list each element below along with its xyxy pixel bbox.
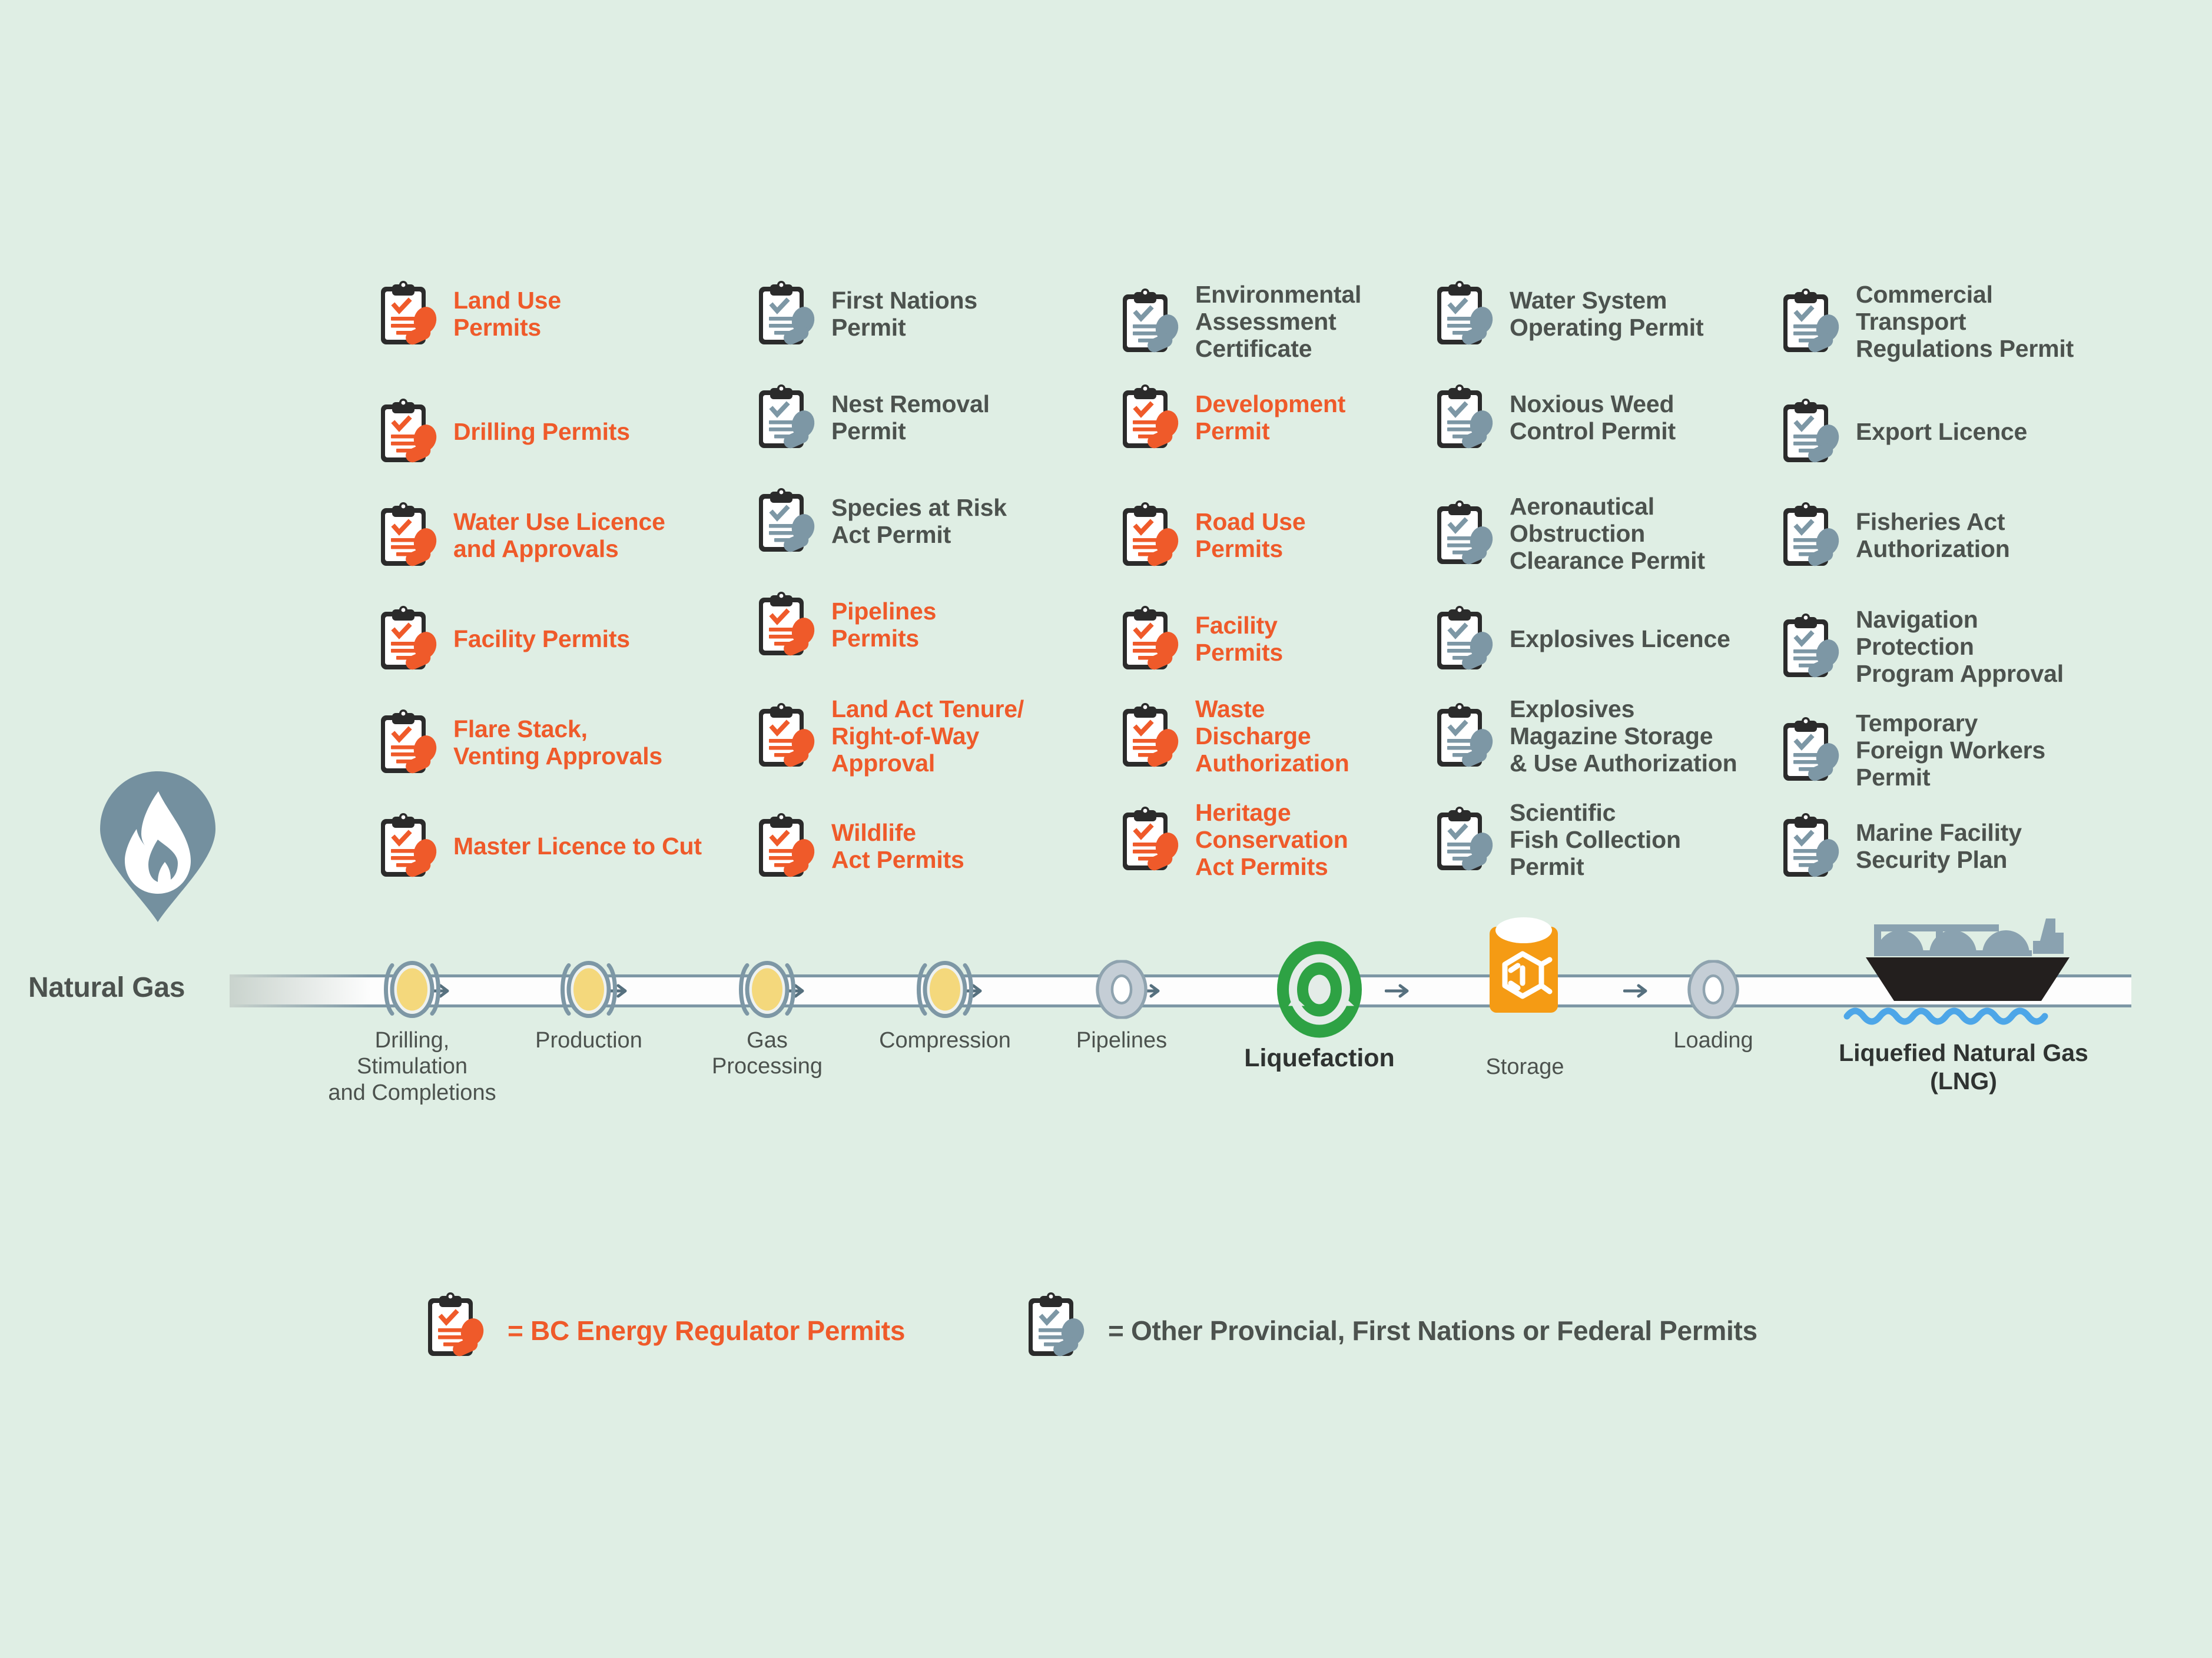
permit-item[interactable]: Noxious Weed Control Permit bbox=[1433, 385, 1775, 451]
permit-item[interactable]: Navigation Protection Program Approval bbox=[1779, 606, 2156, 688]
permit-label: Flare Stack, Venting Approvals bbox=[453, 716, 662, 770]
permit-item[interactable]: Export Licence bbox=[1779, 399, 2156, 465]
clipboard-gray-icon bbox=[1433, 281, 1499, 347]
stage-node-gas-processing[interactable] bbox=[737, 955, 798, 1027]
permit-item[interactable]: Fisheries Act Authorization bbox=[1779, 503, 2156, 569]
clipboard-orange-icon bbox=[755, 814, 821, 880]
clipboard-orange-icon bbox=[1119, 807, 1185, 873]
permit-grid: Land Use Permits Drilling Permits Wate bbox=[0, 0, 2212, 1658]
permit-item[interactable]: Road Use Permits bbox=[1119, 503, 1425, 569]
permit-label: Pipelines Permits bbox=[831, 598, 936, 652]
permit-label: Facility Permits bbox=[453, 626, 630, 653]
permit-item[interactable]: Environmental Assessment Certificate bbox=[1119, 281, 1425, 363]
stage-node-drilling[interactable] bbox=[382, 955, 443, 1027]
clipboard-orange-icon bbox=[377, 503, 443, 569]
permit-label: Land Act Tenure/ Right-of-Way Approval bbox=[831, 696, 1024, 777]
clipboard-gray-icon bbox=[1779, 814, 1845, 880]
clipboard-orange-icon bbox=[377, 710, 443, 776]
stage-node-liquefaction[interactable] bbox=[1275, 940, 1364, 1042]
permit-label: First Nations Permit bbox=[831, 287, 977, 341]
stage-node-label: Storage bbox=[1437, 1054, 1613, 1080]
permit-item[interactable]: Marine Facility Security Plan bbox=[1779, 814, 2156, 880]
clipboard-gray-icon bbox=[1024, 1293, 1100, 1368]
clipboard-orange-icon bbox=[755, 704, 821, 770]
clipboard-orange-icon bbox=[1119, 704, 1185, 770]
clipboard-orange-icon bbox=[1119, 503, 1185, 569]
legend-other: = Other Provincial, First Nations or Fed… bbox=[1024, 1293, 1757, 1368]
storage-tank-icon[interactable] bbox=[1488, 914, 1559, 1026]
permit-item[interactable]: Water System Operating Permit bbox=[1433, 281, 1775, 347]
lng-end-label: Liquefied Natural Gas (LNG) bbox=[1810, 1039, 2117, 1096]
permit-label: Master Licence to Cut bbox=[453, 833, 702, 860]
permit-label: Waste Discharge Authorization bbox=[1195, 696, 1349, 777]
clipboard-gray-icon bbox=[1433, 704, 1499, 770]
stage-node-production[interactable] bbox=[558, 955, 619, 1027]
clipboard-gray-icon bbox=[755, 489, 821, 555]
permit-item[interactable]: Land Use Permits bbox=[377, 281, 707, 347]
permit-item[interactable]: Explosives Licence bbox=[1433, 606, 1775, 672]
clipboard-orange-icon bbox=[1119, 385, 1185, 451]
permit-item[interactable]: Wildlife Act Permits bbox=[755, 814, 1085, 880]
permit-label: Road Use Permits bbox=[1195, 509, 1306, 563]
permit-item[interactable]: Explosives Magazine Storage & Use Author… bbox=[1433, 696, 1786, 777]
legend-ber: = BC Energy Regulator Permits bbox=[424, 1293, 905, 1368]
permit-item[interactable]: First Nations Permit bbox=[755, 281, 1085, 347]
stage-node-pipelines[interactable] bbox=[1092, 960, 1151, 1022]
permit-label: Nest Removal Permit bbox=[831, 391, 990, 445]
permit-item[interactable]: Flare Stack, Venting Approvals bbox=[377, 710, 707, 776]
permit-item[interactable]: Commercial Transport Regulations Permit bbox=[1779, 281, 2156, 363]
permit-item[interactable]: Waste Discharge Authorization bbox=[1119, 696, 1425, 777]
permit-item[interactable]: Master Licence to Cut bbox=[377, 814, 707, 880]
stage-node-label: Pipelines bbox=[1027, 1027, 1216, 1053]
permit-item[interactable]: Facility Permits bbox=[1119, 606, 1425, 672]
legend-other-label: = Other Provincial, First Nations or Fed… bbox=[1108, 1315, 1757, 1347]
clipboard-orange-icon bbox=[424, 1293, 499, 1368]
permit-item[interactable]: Development Permit bbox=[1119, 385, 1425, 451]
natural-gas-label: Natural Gas bbox=[28, 971, 185, 1004]
permit-label: Drilling Permits bbox=[453, 419, 630, 446]
permit-label: Wildlife Act Permits bbox=[831, 820, 964, 874]
permit-label: Noxious Weed Control Permit bbox=[1510, 391, 1676, 445]
permit-item[interactable]: Land Act Tenure/ Right-of-Way Approval bbox=[755, 696, 1085, 777]
flow-arrow-icon bbox=[1623, 982, 1650, 1000]
permit-label: Commercial Transport Regulations Permit bbox=[1856, 281, 2074, 363]
stage-node-label: Liquefaction bbox=[1190, 1043, 1449, 1073]
clipboard-orange-icon bbox=[377, 399, 443, 465]
permit-label: Facility Permits bbox=[1195, 612, 1283, 666]
permit-label: Marine Facility Security Plan bbox=[1856, 820, 2022, 874]
permit-item[interactable]: Heritage Conservation Act Permits bbox=[1119, 800, 1425, 881]
permit-label: Development Permit bbox=[1195, 391, 1345, 445]
pipe-gradient-shade bbox=[230, 974, 371, 1007]
flow-arrow-icon bbox=[1385, 982, 1412, 1000]
permit-item[interactable]: Nest Removal Permit bbox=[755, 385, 1085, 451]
permit-item[interactable]: Scientific Fish Collection Permit bbox=[1433, 800, 1775, 881]
permit-label: Temporary Foreign Workers Permit bbox=[1856, 710, 2045, 791]
permit-label: Explosives Licence bbox=[1510, 626, 1730, 653]
clipboard-orange-icon bbox=[377, 281, 443, 347]
legend-ber-label: = BC Energy Regulator Permits bbox=[508, 1315, 905, 1347]
permit-item[interactable]: Aeronautical Obstruction Clearance Permi… bbox=[1433, 493, 1775, 575]
permit-label: Land Use Permits bbox=[453, 287, 561, 341]
permit-label: Heritage Conservation Act Permits bbox=[1195, 800, 1348, 881]
stage-node-label: Compression bbox=[833, 1027, 1057, 1053]
permit-item[interactable]: Water Use Licence and Approvals bbox=[377, 503, 707, 569]
clipboard-orange-icon bbox=[377, 814, 443, 880]
clipboard-gray-icon bbox=[1779, 614, 1845, 680]
permit-label: Species at Risk Act Permit bbox=[831, 495, 1007, 549]
lng-carrier-ship-icon bbox=[1840, 907, 2087, 1036]
stage-node-loading[interactable] bbox=[1684, 960, 1743, 1022]
clipboard-gray-icon bbox=[1779, 503, 1845, 569]
permit-item[interactable]: Temporary Foreign Workers Permit bbox=[1779, 710, 2156, 791]
permit-label: Scientific Fish Collection Permit bbox=[1510, 800, 1681, 881]
permit-item[interactable]: Facility Permits bbox=[377, 606, 707, 672]
permit-label: Export Licence bbox=[1856, 419, 2027, 446]
clipboard-gray-icon bbox=[1119, 289, 1185, 355]
clipboard-orange-icon bbox=[1119, 606, 1185, 672]
clipboard-gray-icon bbox=[755, 281, 821, 347]
permit-label: Explosives Magazine Storage & Use Author… bbox=[1510, 696, 1737, 777]
clipboard-gray-icon bbox=[1433, 807, 1499, 873]
clipboard-gray-icon bbox=[755, 385, 821, 451]
clipboard-gray-icon bbox=[1779, 399, 1845, 465]
stage-node-label: Gas Processing bbox=[679, 1027, 855, 1080]
permit-label: Environmental Assessment Certificate bbox=[1195, 281, 1361, 363]
clipboard-orange-icon bbox=[377, 606, 443, 672]
permit-item[interactable]: Drilling Permits bbox=[377, 399, 707, 465]
stage-node-label: Production bbox=[483, 1027, 695, 1053]
permit-item[interactable]: Species at Risk Act Permit bbox=[755, 489, 1085, 555]
clipboard-gray-icon bbox=[1433, 385, 1499, 451]
permit-label: Fisheries Act Authorization bbox=[1856, 509, 2010, 563]
permit-label: Water System Operating Permit bbox=[1510, 287, 1703, 341]
permit-label: Navigation Protection Program Approval bbox=[1856, 606, 2064, 688]
permit-item[interactable]: Pipelines Permits bbox=[755, 592, 1085, 658]
stage-node-compression[interactable] bbox=[914, 955, 976, 1027]
clipboard-gray-icon bbox=[1433, 501, 1499, 567]
clipboard-gray-icon bbox=[1779, 289, 1845, 355]
clipboard-orange-icon bbox=[755, 592, 821, 658]
permit-label: Water Use Licence and Approvals bbox=[453, 509, 665, 563]
stage-node-label: Loading bbox=[1619, 1027, 1808, 1053]
permit-label: Aeronautical Obstruction Clearance Permi… bbox=[1510, 493, 1705, 575]
clipboard-gray-icon bbox=[1433, 606, 1499, 672]
clipboard-gray-icon bbox=[1779, 718, 1845, 784]
natural-gas-flame-pin-icon bbox=[99, 770, 217, 923]
